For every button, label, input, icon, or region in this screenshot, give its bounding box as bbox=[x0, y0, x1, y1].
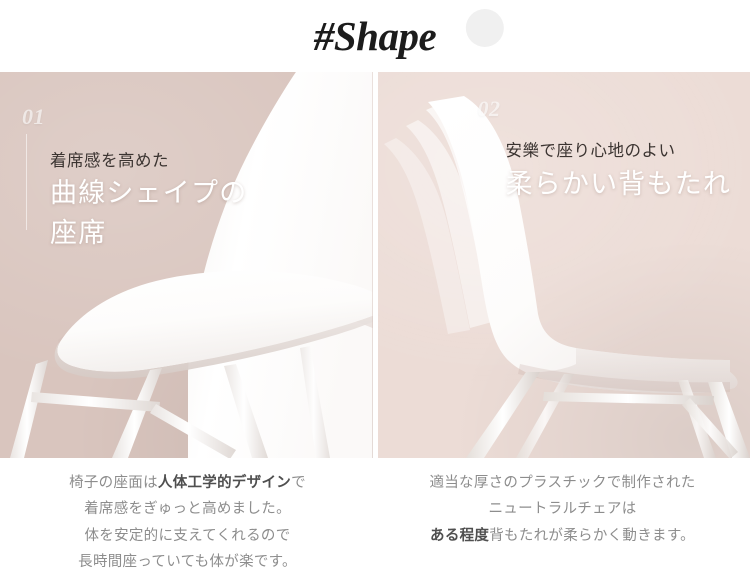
title-decoration-circle bbox=[466, 9, 504, 47]
caption-text: 長時間座っていても体が楽です。 bbox=[78, 554, 297, 570]
caption-panel-01: 椅子の座面は人体工学的デザインで着席感をぎゅっと高めました。体を安定的に支えてく… bbox=[0, 458, 375, 583]
caption-row: 椅子の座面は人体工学的デザインで着席感をぎゅっと高めました。体を安定的に支えてく… bbox=[0, 458, 750, 583]
caption-text: ニュートラルチェアは bbox=[489, 501, 637, 517]
caption-emphasis: 人体工学的デザイン bbox=[158, 475, 291, 491]
page-header: #Shape bbox=[0, 0, 750, 72]
caption-text: で bbox=[291, 475, 306, 491]
caption-line: 適当な厚さのプラスチックで制作された bbox=[375, 470, 750, 496]
caption-line: 長時間座っていても体が楽です。 bbox=[0, 549, 375, 575]
caption-text: 背もたれが柔らかく動きます。 bbox=[489, 528, 695, 544]
caption-text: 着席感をぎゅっと高めました。 bbox=[84, 501, 291, 517]
caption-line: 体を安定的に支えてくれるので bbox=[0, 523, 375, 549]
feature-panels: 01 着席感を高めた 曲線シェイプの 座席 bbox=[0, 72, 750, 458]
chair-seat-closeup-image bbox=[0, 72, 373, 458]
caption-text: 椅子の座面は bbox=[69, 475, 158, 491]
chair-side-flex-image bbox=[378, 72, 750, 458]
caption-panel-02: 適当な厚さのプラスチックで制作されたニュートラルチェアはある程度背もたれが柔らか… bbox=[375, 458, 750, 583]
feature-panel-02[interactable]: 02 安樂で座り心地のよい 柔らかい背もたれ bbox=[378, 72, 750, 458]
caption-line: ニュートラルチェアは bbox=[375, 496, 750, 522]
title-wrap: #Shape bbox=[314, 8, 436, 64]
caption-line: 椅子の座面は人体工学的デザインで bbox=[0, 470, 375, 496]
caption-line: 着席感をぎゅっと高めました。 bbox=[0, 496, 375, 522]
caption-text: 適当な厚さのプラスチックで制作された bbox=[429, 475, 695, 491]
caption-emphasis: ある程度 bbox=[430, 528, 489, 544]
page-title: #Shape bbox=[314, 16, 436, 57]
caption-line: ある程度背もたれが柔らかく動きます。 bbox=[375, 523, 750, 549]
product-feature-page: #Shape bbox=[0, 0, 750, 583]
caption-text: 体を安定的に支えてくれるので bbox=[84, 528, 290, 544]
feature-panel-01[interactable]: 01 着席感を高めた 曲線シェイプの 座席 bbox=[0, 72, 373, 458]
